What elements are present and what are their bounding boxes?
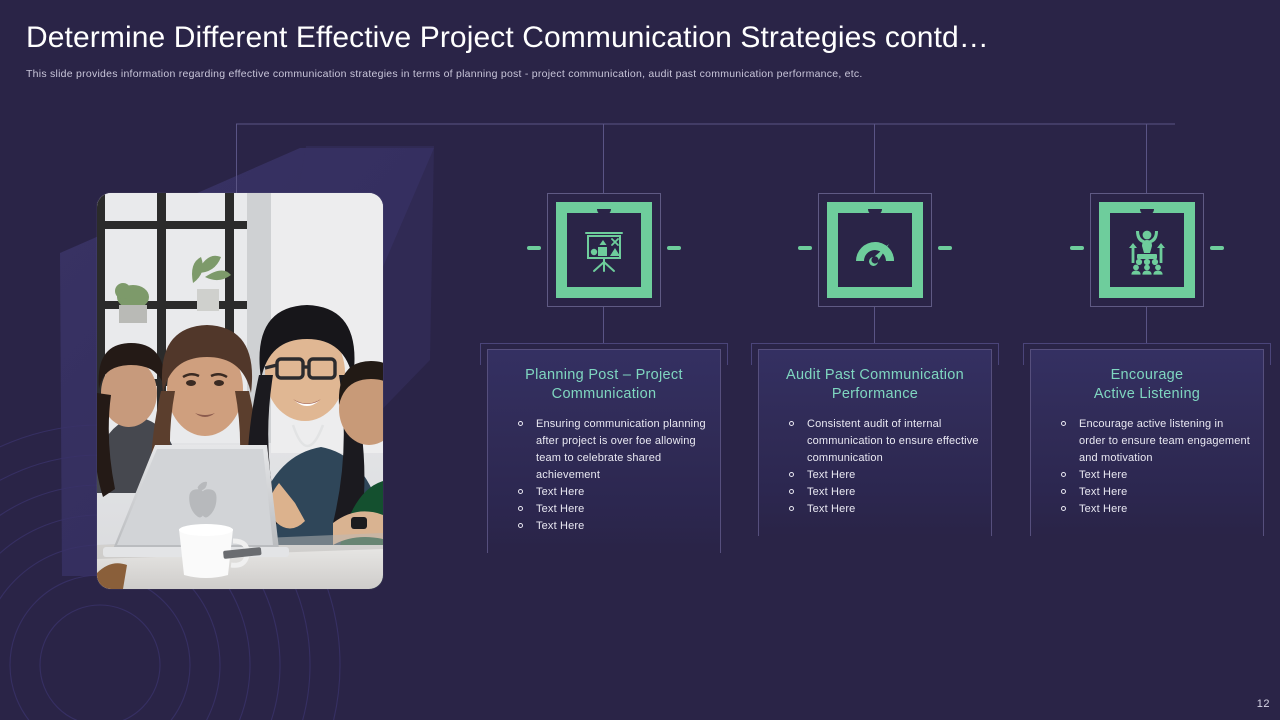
connector-dash-right: [667, 246, 681, 250]
connector-dash-left: [1070, 246, 1084, 250]
list-item: Consistent audit of internal communicati…: [785, 416, 979, 467]
icon-block-listening[interactable]: [1090, 193, 1204, 307]
card-title-line2: Communication: [552, 386, 657, 402]
presenter-audience-icon: [1122, 225, 1172, 275]
list-item: Text Here: [1057, 484, 1251, 501]
card-title-line2: Performance: [832, 386, 918, 402]
connector-dash-left: [798, 246, 812, 250]
card-bullet-list: Encourage active listening in order to e…: [1041, 416, 1253, 518]
icon-inner-panel: [1110, 213, 1184, 287]
list-item: Text Here: [785, 484, 979, 501]
list-item: Ensuring communication planning after pr…: [514, 416, 708, 484]
team-photo: [97, 193, 383, 589]
card-title: Encourage Active Listening: [1041, 366, 1253, 404]
team-photo-illustration: [97, 193, 383, 589]
list-item: Encourage active listening in order to e…: [1057, 416, 1251, 467]
page-number: 12: [1257, 698, 1270, 710]
connector-dash-left: [527, 246, 541, 250]
list-item: Text Here: [1057, 467, 1251, 484]
icon-block-audit[interactable]: [818, 193, 932, 307]
card-bullet-list: Ensuring communication planning after pr…: [498, 416, 710, 535]
card-audit-past-communication-performance[interactable]: Audit Past Communication Performance Con…: [758, 349, 992, 536]
list-item: Text Here: [514, 484, 708, 501]
card-title-line1: Encourage: [1111, 367, 1184, 383]
card-title: Audit Past Communication Performance: [769, 366, 981, 404]
card-title-line1: Planning Post – Project: [525, 367, 683, 383]
card-encourage-active-listening[interactable]: Encourage Active Listening Encourage act…: [1030, 349, 1264, 536]
card-title: Planning Post – Project Communication: [498, 366, 710, 404]
list-item: Text Here: [785, 501, 979, 518]
list-item: Text Here: [514, 501, 708, 518]
connector-dash-right: [938, 246, 952, 250]
card-planning-post-project-communication[interactable]: Planning Post – Project Communication En…: [487, 349, 721, 553]
card-bullet-list: Consistent audit of internal communicati…: [769, 416, 981, 518]
slide-header: Determine Different Effective Project Co…: [0, 0, 1280, 100]
list-item: Text Here: [1057, 501, 1251, 518]
slide-canvas: Determine Different Effective Project Co…: [0, 0, 1280, 720]
list-item: Text Here: [514, 518, 708, 535]
page-title: Determine Different Effective Project Co…: [26, 21, 1246, 55]
speedometer-gauge-icon: [850, 225, 900, 275]
page-subtitle: This slide provides information regardin…: [26, 68, 1236, 80]
list-item: Text Here: [785, 467, 979, 484]
icon-inner-panel: [567, 213, 641, 287]
icon-block-planning[interactable]: [547, 193, 661, 307]
card-title-line1: Audit Past Communication: [786, 367, 964, 383]
card-title-line2: Active Listening: [1094, 386, 1200, 402]
connector-dash-right: [1210, 246, 1224, 250]
presentation-board-icon: [579, 225, 629, 275]
icon-inner-panel: [838, 213, 912, 287]
